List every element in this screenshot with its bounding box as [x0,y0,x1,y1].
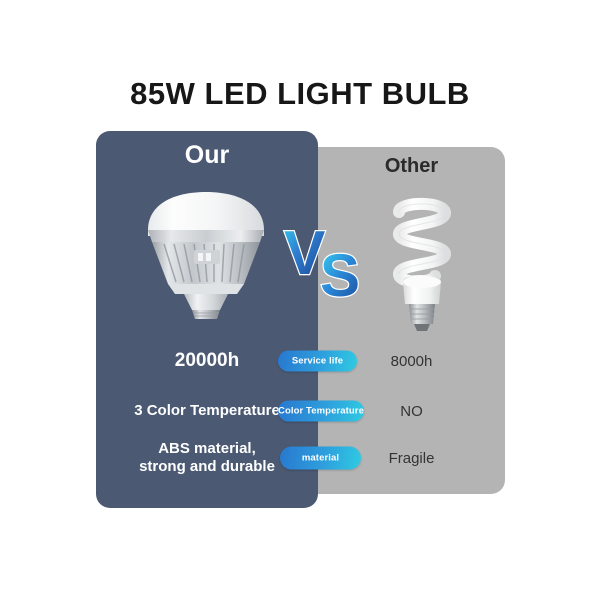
feature-pill: Service life [278,351,357,372]
cfl-spiral-bulb-icon [379,192,465,332]
panel-our-label: Our [96,141,318,170]
comparison-row: 20000h 8000h Service life [96,339,505,383]
feature-pill: material [280,447,361,470]
page-title: 85W LED LIGHT BULB [0,76,600,112]
led-bulb-icon [136,186,276,321]
feature-pill: Color Temperature [278,401,364,422]
panel-other-label: Other [318,155,505,178]
svg-text:V: V [284,219,325,288]
infographic-canvas: 85W LED LIGHT BULB Our Other [0,0,600,600]
vs-badge: V S [282,216,374,302]
comparison-row: 3 Color Temperature NO Color Temperature [96,389,505,433]
svg-text:S: S [320,242,360,302]
comparison-row: ABS material, strong and durable Fragile… [96,436,505,480]
